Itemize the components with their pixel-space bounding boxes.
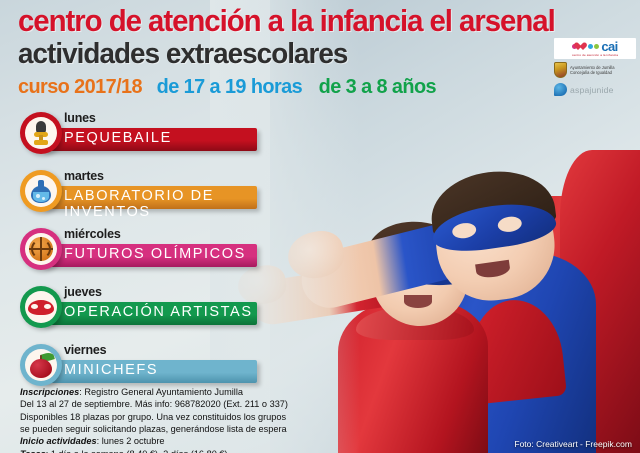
hero-small-mouth: [404, 295, 432, 308]
activity-bar[interactable]: FUTUROS OLÍMPICOS: [42, 244, 257, 267]
info-line-tasas: Tasas: 1 día a la semana (8,40 €), 2 día…: [20, 448, 420, 453]
logo-group: cai centro de atención a la infancia Ayu…: [554, 38, 636, 96]
info-text-inscripciones: : Registro General Ayuntamiento Jumilla: [79, 387, 243, 397]
activity-name: OPERACIÓN ARTISTAS: [64, 304, 253, 320]
activity-list: PEQUEBAILElunesLABORATORIO DE INVENTOSma…: [0, 108, 300, 398]
info-line-waitlist: se pueden seguir solicitando plazas, gen…: [20, 423, 420, 435]
activity-name: FUTUROS OLÍMPICOS: [64, 246, 246, 262]
activity-name: LABORATORIO DE INVENTOS: [64, 188, 257, 220]
header-details: curso 2017/18 de 17 a 19 horas de 3 a 8 …: [18, 75, 561, 99]
activity-icon-disc: [20, 344, 62, 386]
flask-icon: [29, 179, 53, 203]
apple-icon: [29, 353, 53, 378]
ayuntamiento-line2: Concejalía de Igualdad: [570, 70, 615, 75]
activity-name: PEQUEBAILE: [64, 130, 172, 146]
ayuntamiento-text: Ayuntamiento de Jumilla Concejalía de Ig…: [570, 65, 615, 76]
aspajunide-mark-icon: [554, 83, 567, 96]
course-label: curso 2017/18: [18, 75, 142, 98]
info-text-tasas: : 1 día a la semana (8,40 €), 2 días (16…: [46, 449, 228, 453]
cai-wordmark: cai: [601, 40, 617, 53]
activity-day: lunes: [64, 111, 96, 125]
microphone-icon: [31, 121, 51, 145]
cai-mark-icon: [572, 43, 599, 51]
photo-credit: Foto: Creativeart - Freepik.com: [514, 439, 632, 449]
info-line-inscripciones: Inscripciones: Registro General Ayuntami…: [20, 386, 420, 398]
activity-icon-disc: [20, 286, 62, 328]
activity-day: miércoles: [64, 227, 121, 241]
activity-day: jueves: [64, 285, 102, 299]
info-label-inicio: Inicio actividades: [20, 436, 97, 446]
cai-logo: cai centro de atención a la infancia: [554, 38, 636, 59]
activity-icon-disc: [20, 170, 62, 212]
activity-row[interactable]: PEQUEBAILElunes: [0, 108, 300, 166]
aspajunide-logo: aspajunide: [554, 83, 636, 96]
registration-info: Inscripciones: Registro General Ayuntami…: [20, 386, 420, 453]
activity-icon-disc: [20, 228, 62, 270]
aspajunide-wordmark: aspajunide: [570, 85, 614, 95]
activity-bar[interactable]: MINICHEFS: [42, 360, 257, 383]
page-title: centro de atención a la infancia el arse…: [18, 6, 558, 37]
info-label-inscripciones: Inscripciones: [20, 387, 79, 397]
coat-of-arms-icon: [554, 62, 567, 78]
page-subtitle: actividades extraescolares: [18, 39, 556, 70]
poster-header: centro de atención a la infancia el arse…: [18, 6, 578, 99]
info-line-inicio: Inicio actividades: lunes 2 octubre: [20, 435, 420, 447]
activity-icon-disc: [20, 112, 62, 154]
basketball-icon: [29, 237, 53, 261]
activity-row[interactable]: FUTUROS OLÍMPICOSmiércoles: [0, 224, 300, 282]
activity-row[interactable]: OPERACIÓN ARTISTASjueves: [0, 282, 300, 340]
activity-bar[interactable]: LABORATORIO DE INVENTOS: [42, 186, 257, 209]
info-line-places: Disponibles 18 plazas por grupo. Una vez…: [20, 411, 420, 423]
activity-day: martes: [64, 169, 104, 183]
activity-bar[interactable]: OPERACIÓN ARTISTAS: [42, 302, 257, 325]
poster-root: centro de atención a la infancia el arse…: [0, 0, 640, 453]
info-line-dates: Del 13 al 27 de septiembre. Más info: 96…: [20, 398, 420, 410]
activity-day: viernes: [64, 343, 106, 357]
info-text-inicio: : lunes 2 octubre: [97, 436, 165, 446]
activity-row[interactable]: LABORATORIO DE INVENTOSmartes: [0, 166, 300, 224]
hours-label: de 17 a 19 horas: [157, 75, 302, 98]
mask-icon: [28, 300, 54, 315]
ages-label: de 3 a 8 años: [319, 75, 436, 98]
cai-tagline: centro de atención a la infancia: [572, 53, 618, 57]
activity-name: MINICHEFS: [64, 362, 158, 378]
info-label-tasas: Tasas: [20, 449, 46, 453]
ayuntamiento-logo: Ayuntamiento de Jumilla Concejalía de Ig…: [554, 62, 636, 78]
activity-bar[interactable]: PEQUEBAILE: [42, 128, 257, 151]
